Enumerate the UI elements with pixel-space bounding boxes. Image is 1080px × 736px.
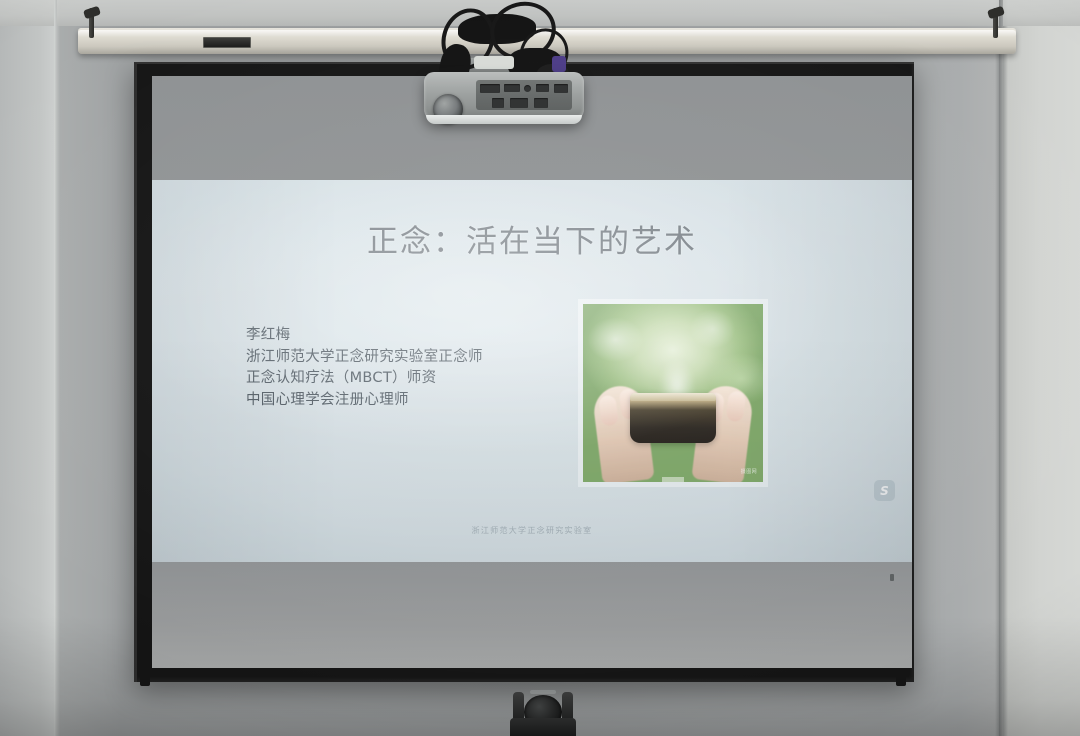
- list-item: 李红梅: [246, 325, 576, 347]
- projector-base-plate: [426, 115, 582, 124]
- photo-finger: [726, 390, 747, 422]
- projector-port-audio: [524, 85, 531, 92]
- list-item: 中国心理学会注册心理师: [246, 390, 576, 412]
- list-item: 浙江师范大学正念研究实验室正念师: [246, 347, 576, 369]
- ptz-camera: [504, 688, 582, 736]
- projector-port-usb: [536, 84, 549, 92]
- camera-top-highlight: [530, 690, 556, 694]
- projector-port-aux: [534, 98, 548, 108]
- slide-byline-list: 李红梅 浙江师范大学正念研究实验室正念师 正念认知疗法（MBCT）师资 中国心理…: [246, 325, 576, 411]
- slide-badge-glyph: S: [880, 485, 889, 497]
- camera-bracket-base: [510, 718, 576, 736]
- list-item: 正念认知疗法（MBCT）师资: [246, 368, 576, 390]
- projector-cable-tie: [474, 56, 514, 69]
- slide-corner-badge-icon: S: [874, 480, 895, 501]
- projector-port-panel: [476, 80, 572, 110]
- screenshot-root: 正念：活在当下的艺术 李红梅 浙江师范大学正念研究实验室正念师 正念认知疗法（M…: [0, 0, 1080, 736]
- photo-bottom-tab: [662, 477, 684, 482]
- projector-cable-connector: [552, 56, 566, 72]
- photo-cup-rim: [630, 393, 716, 401]
- projector-port-power: [492, 98, 504, 108]
- projection-screen-surface: 正念：活在当下的艺术 李红梅 浙江师范大学正念研究实验室正念师 正念认知疗法（M…: [152, 76, 912, 668]
- screen-weight-bar-foot-right: [896, 676, 906, 686]
- photo-cup: [630, 393, 716, 443]
- photo-finger: [598, 395, 619, 427]
- roller-bracket-left: [84, 8, 100, 38]
- projector-port-lan: [554, 84, 568, 93]
- slide-footer: 浙江师范大学正念研究实验室: [152, 525, 912, 536]
- slide-photo-frame: 摄图网: [578, 299, 768, 487]
- projector-port-hdmi: [504, 84, 520, 92]
- slide-title: 正念：活在当下的艺术: [152, 216, 912, 261]
- roller-bracket-right: [988, 8, 1004, 38]
- projected-slide: 正念：活在当下的艺术 李红梅 浙江师范大学正念研究实验室正念师 正念认知疗法（M…: [152, 180, 912, 562]
- screen-surface-mark: [890, 574, 894, 581]
- roller-name-plate: [203, 37, 251, 48]
- projector-port-vga: [480, 84, 500, 93]
- photo-watermark: 摄图网: [741, 468, 757, 475]
- slide-photo-image: 摄图网: [583, 304, 763, 482]
- screen-weight-bar-foot-left: [140, 676, 150, 686]
- screen-unlit-area: [152, 560, 912, 668]
- projector-port-serial: [510, 98, 528, 108]
- ceiling-projector: [424, 58, 584, 126]
